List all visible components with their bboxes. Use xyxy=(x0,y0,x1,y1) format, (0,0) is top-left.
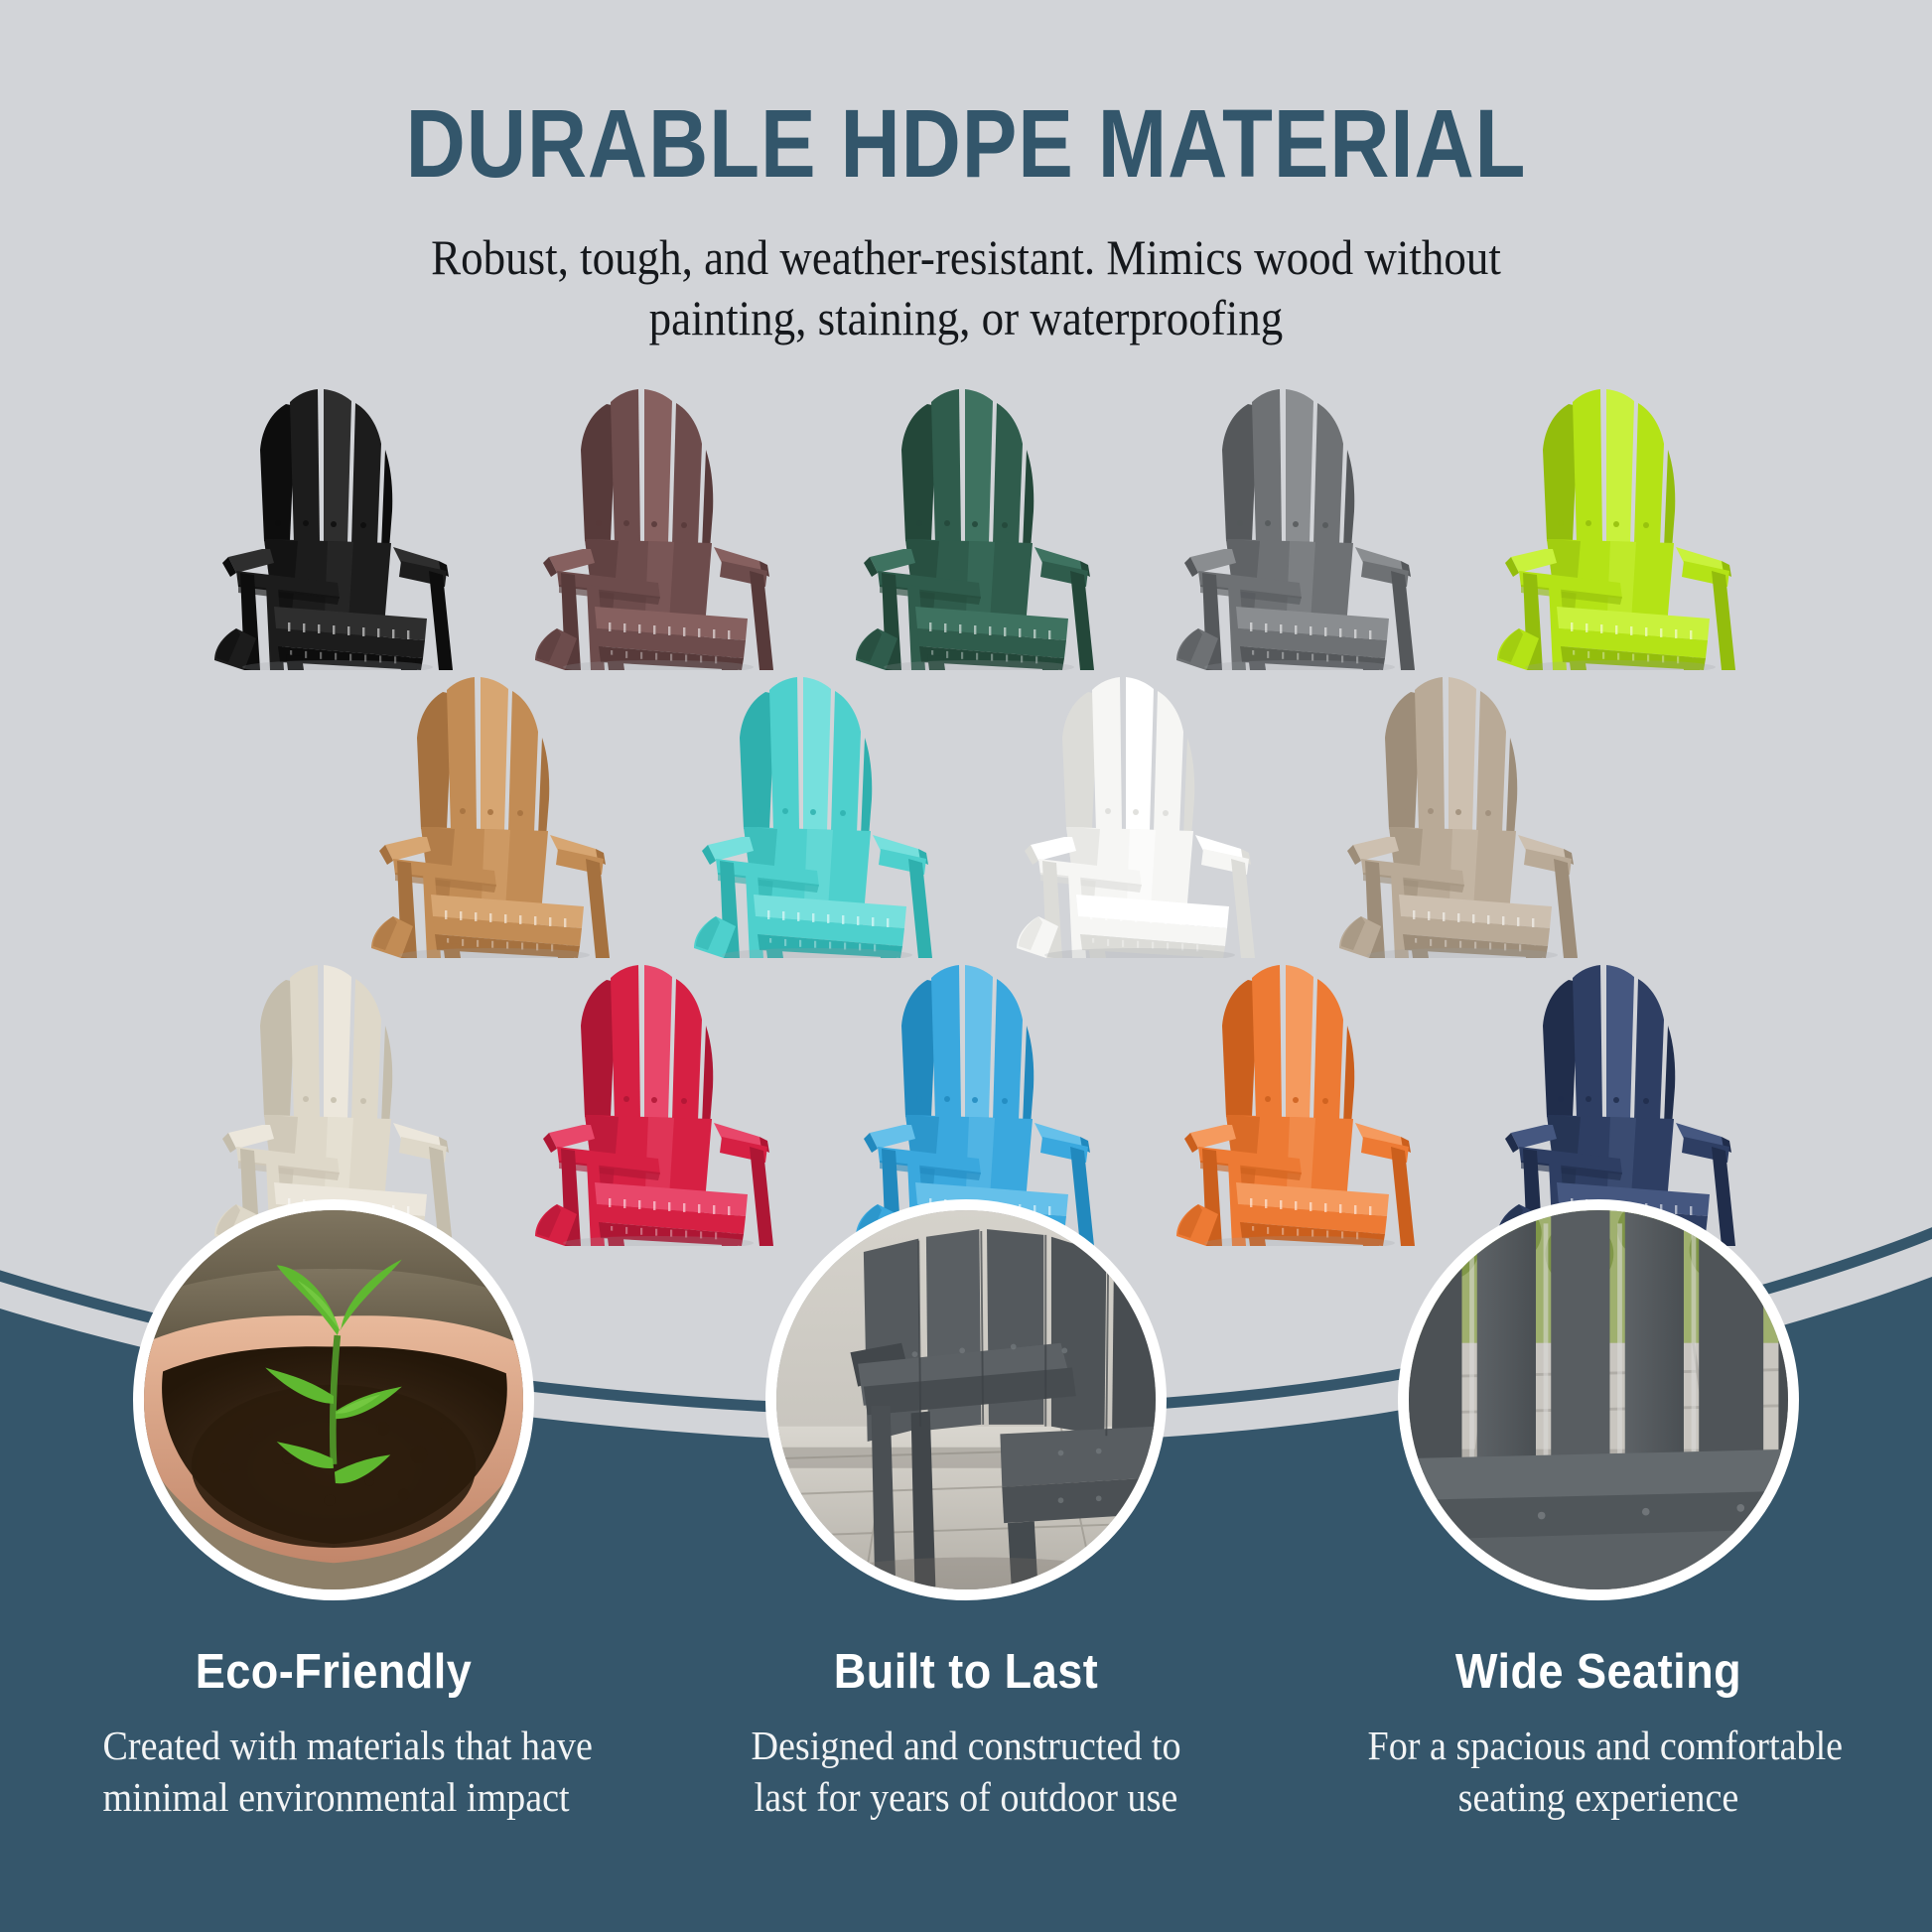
chair-row-1 xyxy=(0,372,1932,670)
feature-desc-line-2: seating experience xyxy=(1368,1771,1830,1823)
feature-photo-built-to-last xyxy=(765,1199,1167,1600)
chair-swatch-tan[interactable] xyxy=(336,660,628,958)
feature-title: Wide Seating xyxy=(1370,1644,1827,1700)
feature-desc-line-2: minimal environmental impact xyxy=(103,1771,565,1823)
chair-swatch-taupe[interactable] xyxy=(1304,660,1596,958)
infographic-canvas: DURABLE HDPE MATERIAL Robust, tough, and… xyxy=(0,0,1932,1932)
feature-desc-line-1: Designed and constructed to xyxy=(736,1720,1197,1771)
feature-title: Built to Last xyxy=(738,1644,1194,1700)
page-subtitle: Robust, tough, and weather-resistant. Mi… xyxy=(96,227,1835,348)
feature-desc-line-1: For a spacious and comfortable xyxy=(1368,1720,1830,1771)
seedling-in-hands-image xyxy=(144,1210,523,1589)
page-title: DURABLE HDPE MATERIAL xyxy=(135,95,1797,192)
wide-seat-closeup-image xyxy=(1409,1210,1788,1589)
feature-built-to-last: Built to Last Designed and constructed t… xyxy=(718,1199,1214,1824)
feature-wide-seating: Wide Seating For a spacious and comforta… xyxy=(1350,1199,1847,1824)
feature-photo-eco-friendly xyxy=(133,1199,534,1600)
subtitle-line-2: painting, staining, or waterproofing xyxy=(96,288,1835,348)
subtitle-line-1: Robust, tough, and weather-resistant. Mi… xyxy=(96,227,1835,288)
chair-swatch-turquoise[interactable] xyxy=(658,660,951,958)
chair-color-grid xyxy=(0,372,1932,1256)
feature-title: Eco-Friendly xyxy=(105,1644,562,1700)
feature-description: For a spacious and comfortable seating e… xyxy=(1368,1720,1830,1824)
chair-row-2 xyxy=(0,660,1932,958)
chair-swatch-gray[interactable] xyxy=(1141,372,1434,670)
chair-swatch-lime-green[interactable] xyxy=(1461,372,1754,670)
gray-chair-on-patio-image xyxy=(776,1210,1156,1589)
chair-swatch-dark-green[interactable] xyxy=(820,372,1113,670)
chair-swatch-black[interactable] xyxy=(179,372,472,670)
feature-eco-friendly: Eco-Friendly Created with materials that… xyxy=(85,1199,582,1824)
feature-photo-wide-seating xyxy=(1398,1199,1799,1600)
feature-description: Designed and constructed to last for yea… xyxy=(736,1720,1197,1824)
feature-desc-line-2: last for years of outdoor use xyxy=(736,1771,1197,1823)
chair-swatch-brown[interactable] xyxy=(499,372,792,670)
feature-list: Eco-Friendly Created with materials that… xyxy=(0,1199,1932,1932)
chair-swatch-white[interactable] xyxy=(981,660,1274,958)
feature-description: Created with materials that have minimal… xyxy=(103,1720,565,1824)
header: DURABLE HDPE MATERIAL Robust, tough, and… xyxy=(0,0,1932,348)
feature-desc-line-1: Created with materials that have xyxy=(103,1720,565,1771)
